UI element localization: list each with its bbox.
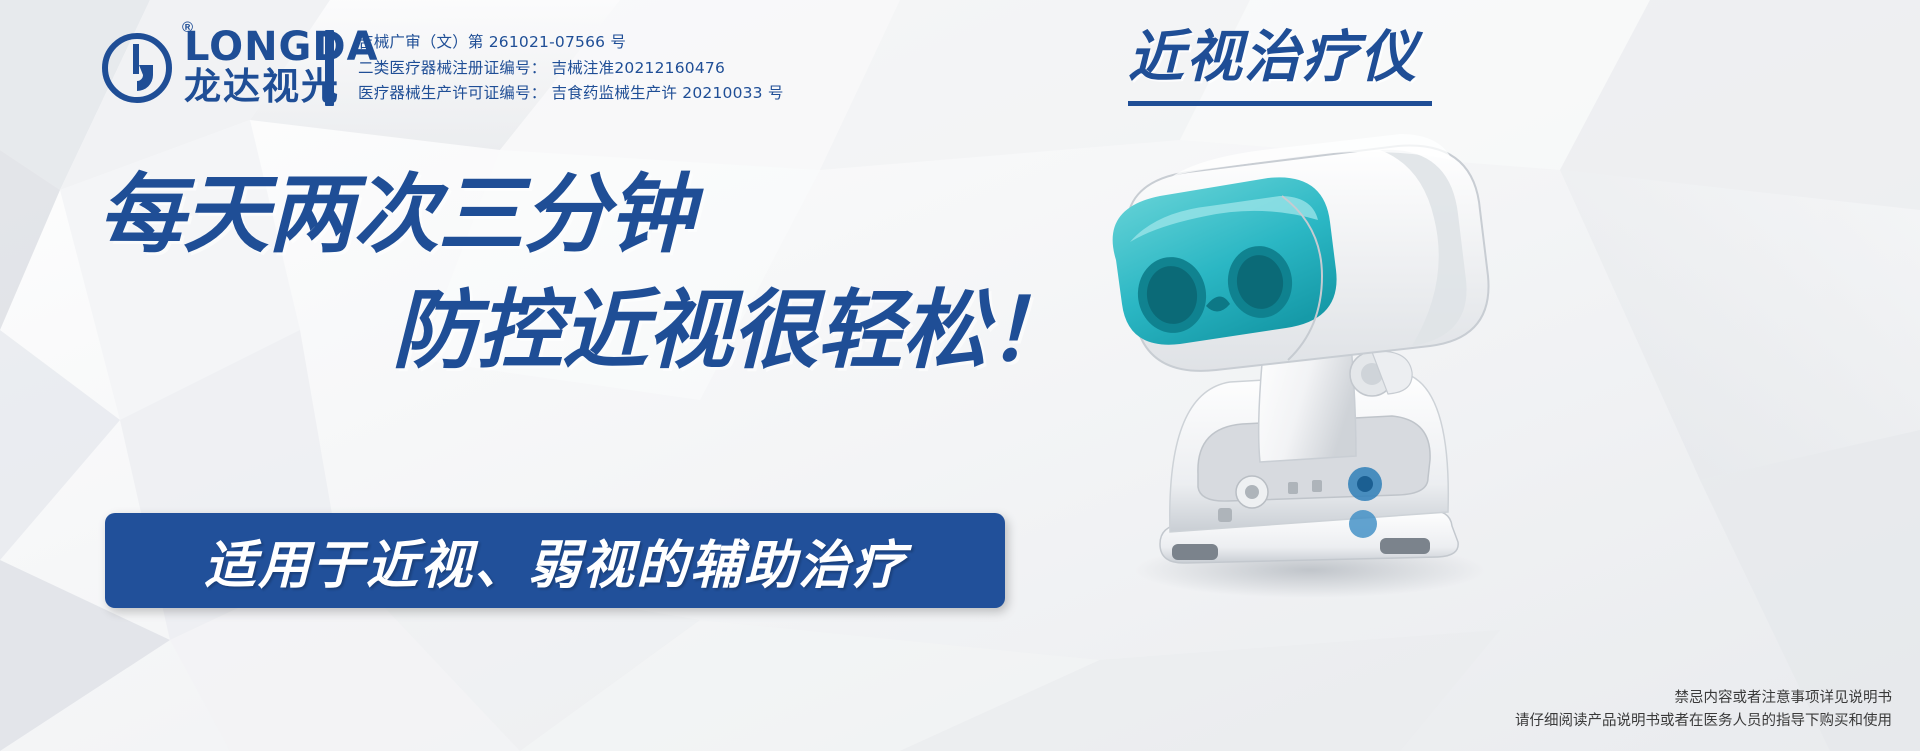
logo-latin-name: LONGDA: [184, 28, 379, 67]
logo-divider: [325, 30, 334, 106]
logo-chinese-name: 龙达视光: [184, 68, 379, 107]
longda-circle-mark-icon: [100, 31, 174, 105]
regulatory-line-1: 吉械广审（文）第 261021-07566 号: [358, 30, 784, 56]
registered-trademark-icon: ®: [182, 19, 193, 36]
cta-banner[interactable]: 适用于近视、弱视的辅助治疗: [105, 513, 1005, 608]
regulatory-line-2: 二类医疗器械注册证编号： 吉械注准20212160476: [358, 56, 784, 82]
disclaimer-text: 禁忌内容或者注意事项详见说明书 请仔细阅读产品说明书或者在医务人员的指导下购买和…: [1515, 687, 1892, 733]
advertisement-banner: ® LONGDA 龙达视光 吉械广审（文）第 261021-07566 号 二类…: [0, 0, 1920, 751]
disclaimer-line-2: 请仔细阅读产品说明书或者在医务人员的指导下购买和使用: [1515, 710, 1892, 733]
headline-line-2: 防控近视很轻松！: [392, 288, 1072, 374]
cta-text: 适用于近视、弱视的辅助治疗: [204, 523, 906, 598]
myopia-therapy-device-icon: [1020, 92, 1580, 612]
regulatory-text-block: 吉械广审（文）第 261021-07566 号 二类医疗器械注册证编号： 吉械注…: [358, 30, 784, 107]
product-title: 近视治疗仪: [1128, 22, 1418, 92]
headline-line-1: 每天两次三分钟: [98, 172, 693, 258]
regulatory-line-3: 医疗器械生产许可证编号： 吉食药监械生产许 20210033 号: [358, 81, 784, 107]
brand-logo: ® LONGDA 龙达视光: [100, 28, 379, 107]
disclaimer-line-1: 禁忌内容或者注意事项详见说明书: [1515, 687, 1892, 710]
